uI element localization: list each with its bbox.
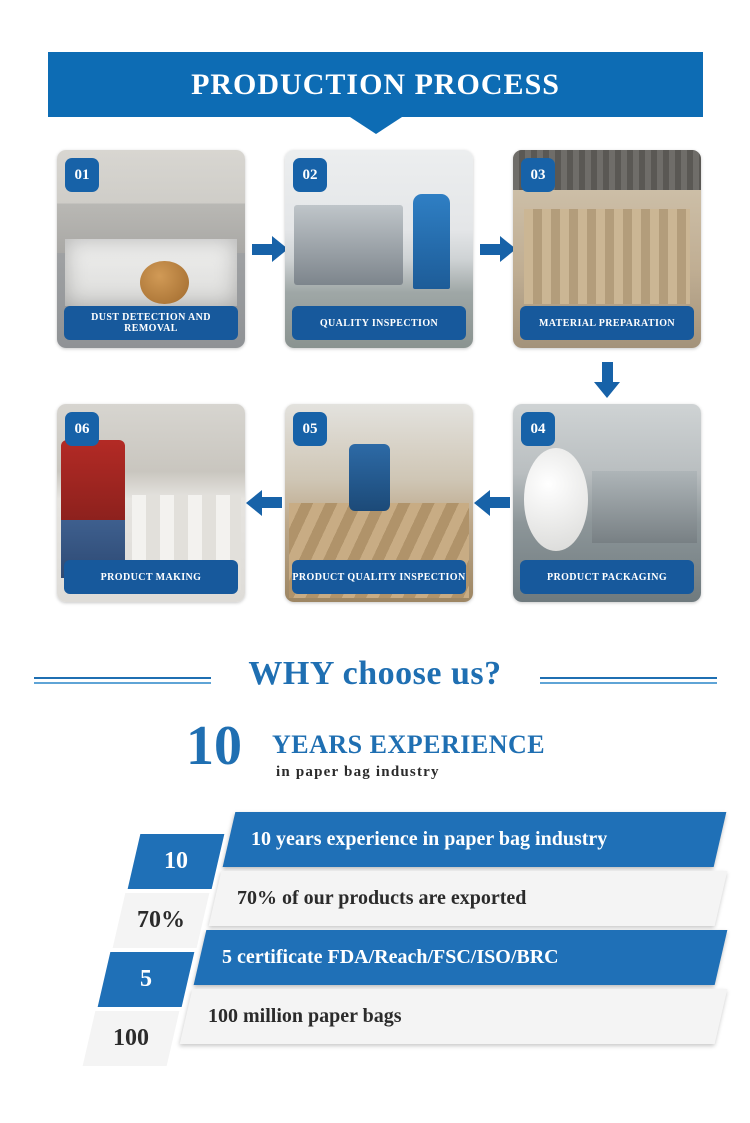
banner-notch-triangle	[350, 117, 402, 134]
stat-number: 70%	[137, 907, 185, 934]
years-experience-label: YEARS EXPERIENCE	[272, 730, 545, 760]
years-number: 10	[186, 718, 242, 774]
page-title: PRODUCTION PROCESS	[48, 52, 703, 117]
process-card-02[interactable]: 02 QUALITY INSPECTION	[285, 150, 473, 348]
page-root: PRODUCTION PROCESS 01 DUST DETECTION AND…	[0, 0, 750, 1123]
stat-label: 10 years experience in paper bag industr…	[251, 828, 607, 851]
stat-label: 70% of our products are exported	[237, 887, 526, 910]
stat-label: 100 million paper bags	[208, 1005, 402, 1028]
process-caption: QUALITY INSPECTION	[292, 306, 466, 340]
stat-number: 10	[164, 848, 188, 875]
stat-number: 100	[113, 1025, 149, 1052]
process-number-badge: 03	[521, 158, 555, 192]
stat-label: 5 certificate FDA/Reach/FSC/ISO/BRC	[222, 946, 559, 969]
why-choose-us-section: WHY choose us?	[0, 655, 750, 715]
stat-bar[interactable]: 5 certificate FDA/Reach/FSC/ISO/BRC	[194, 930, 728, 985]
arrow-right-icon	[480, 236, 516, 262]
stat-number: 5	[140, 966, 152, 993]
process-number-badge: 04	[521, 412, 555, 446]
years-experience-sublabel: in paper bag industry	[276, 764, 440, 781]
process-card-01[interactable]: 01 DUST DETECTION AND REMOVAL	[57, 150, 245, 348]
stat-number-box: 5	[98, 952, 195, 1007]
stat-bar[interactable]: 10 years experience in paper bag industr…	[223, 812, 727, 867]
process-card-05[interactable]: 05 PRODUCT QUALITY INSPECTION	[285, 404, 473, 602]
years-experience-block: 10 YEARS EXPERIENCE in paper bag industr…	[0, 722, 750, 792]
process-caption: PRODUCT QUALITY INSPECTION	[292, 560, 466, 594]
stats-list: 10 10 years experience in paper bag indu…	[0, 812, 750, 1102]
stat-number-box: 10	[128, 834, 225, 889]
process-caption: DUST DETECTION AND REMOVAL	[64, 306, 238, 340]
process-card-03[interactable]: 03 MATERIAL PREPARATION	[513, 150, 701, 348]
process-number-badge: 06	[65, 412, 99, 446]
process-card-06[interactable]: 06 PRODUCT MAKING	[57, 404, 245, 602]
process-number-badge: 01	[65, 158, 99, 192]
decorative-rule-right	[540, 677, 717, 686]
arrow-down-icon	[594, 362, 620, 398]
process-caption: PRODUCT MAKING	[64, 560, 238, 594]
stat-number-box: 100	[83, 1011, 180, 1066]
stat-bar[interactable]: 100 million paper bags	[180, 989, 728, 1044]
process-caption: MATERIAL PREPARATION	[520, 306, 694, 340]
process-number-badge: 05	[293, 412, 327, 446]
arrow-left-icon	[246, 490, 282, 516]
process-caption: PRODUCT PACKAGING	[520, 560, 694, 594]
production-process-banner: PRODUCTION PROCESS	[48, 52, 703, 117]
stat-number-box: 70%	[113, 893, 210, 948]
arrow-left-icon	[474, 490, 510, 516]
process-card-04[interactable]: 04 PRODUCT PACKAGING	[513, 404, 701, 602]
arrow-right-icon	[252, 236, 288, 262]
process-number-badge: 02	[293, 158, 327, 192]
why-choose-us-title: WHY choose us?	[0, 655, 750, 693]
stat-bar[interactable]: 70% of our products are exported	[209, 871, 728, 926]
